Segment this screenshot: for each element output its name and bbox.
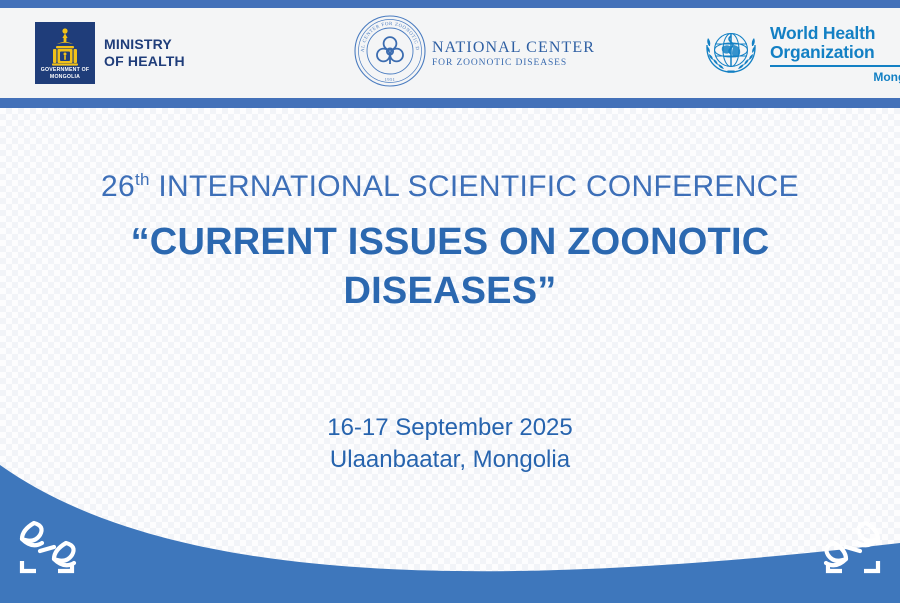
mongolia-soyombo-emblem-icon: GOVERNMENT OF MONGOLIA bbox=[35, 22, 95, 84]
event-date: 16-17 September 2025 bbox=[0, 412, 900, 444]
wave-blue-shape bbox=[0, 465, 900, 603]
nczd-label-line1: NATIONAL CENTER bbox=[432, 40, 595, 56]
nczd-label: NATIONAL CENTER FOR ZOONOTIC DISEASES bbox=[432, 38, 595, 69]
svg-text:NATIONAL CENTER FOR ZOONOTIC D: NATIONAL CENTER FOR ZOONOTIC DISEASES bbox=[352, 13, 419, 52]
conference-number: 26 bbox=[101, 170, 135, 203]
top-accent-bar bbox=[0, 0, 900, 8]
logo-header-band: GOVERNMENT OF MONGOLIA MINISTRY OF HEALT… bbox=[0, 8, 900, 98]
crest-caption: GOVERNMENT OF MONGOLIA bbox=[35, 67, 95, 80]
ministry-label-line2: OF HEALTH bbox=[104, 53, 185, 70]
bottom-wave-decoration bbox=[0, 443, 900, 603]
ministry-label-line1: MINISTRY bbox=[104, 36, 185, 53]
ministry-label: MINISTRY OF HEALTH bbox=[104, 36, 185, 70]
nczd-label-line2: FOR ZOONOTIC DISEASES bbox=[432, 59, 595, 69]
conference-title-slide: GOVERNMENT OF MONGOLIA MINISTRY OF HEALT… bbox=[0, 0, 900, 603]
conference-heading-text: INTERNATIONAL SCIENTIFIC CONFERENCE bbox=[150, 170, 799, 203]
mongolian-knot-ornament-left-icon bbox=[14, 517, 92, 577]
who-label-line2: Organization bbox=[770, 43, 900, 62]
header-accent-bar bbox=[0, 98, 900, 108]
who-globe-laurel-icon bbox=[700, 20, 762, 87]
who-country-label: Mongolia bbox=[770, 71, 900, 83]
who-label-line1: World Health bbox=[770, 24, 900, 43]
who-logo: World Health Organization Mongolia bbox=[700, 8, 900, 98]
conference-title-line2: DISEASES” bbox=[0, 267, 900, 316]
ministry-of-health-logo: GOVERNMENT OF MONGOLIA MINISTRY OF HEALT… bbox=[35, 8, 185, 98]
mongolian-knot-ornament-right-icon bbox=[808, 517, 886, 577]
crest-caption-line2: MONGOLIA bbox=[35, 74, 95, 80]
crest-caption-line1: GOVERNMENT OF bbox=[35, 67, 95, 73]
conference-heading: 26th INTERNATIONAL SCIENTIFIC CONFERENCE bbox=[0, 170, 900, 204]
conference-title-line1: “CURRENT ISSUES ON ZOONOTIC bbox=[0, 218, 900, 267]
who-label: World Health Organization Mongolia bbox=[770, 24, 900, 83]
title-block: 26th INTERNATIONAL SCIENTIFIC CONFERENCE… bbox=[0, 170, 900, 316]
biohazard-seal-icon: 1951 NATIONAL CENTER FOR ZOONOTIC DISEAS… bbox=[352, 13, 428, 94]
who-divider bbox=[770, 65, 900, 67]
conference-title: “CURRENT ISSUES ON ZOONOTIC DISEASES” bbox=[0, 218, 900, 316]
seal-year: 1951 bbox=[385, 77, 396, 82]
nczd-logo: 1951 NATIONAL CENTER FOR ZOONOTIC DISEAS… bbox=[352, 8, 595, 98]
conference-ordinal-suffix: th bbox=[135, 170, 150, 189]
